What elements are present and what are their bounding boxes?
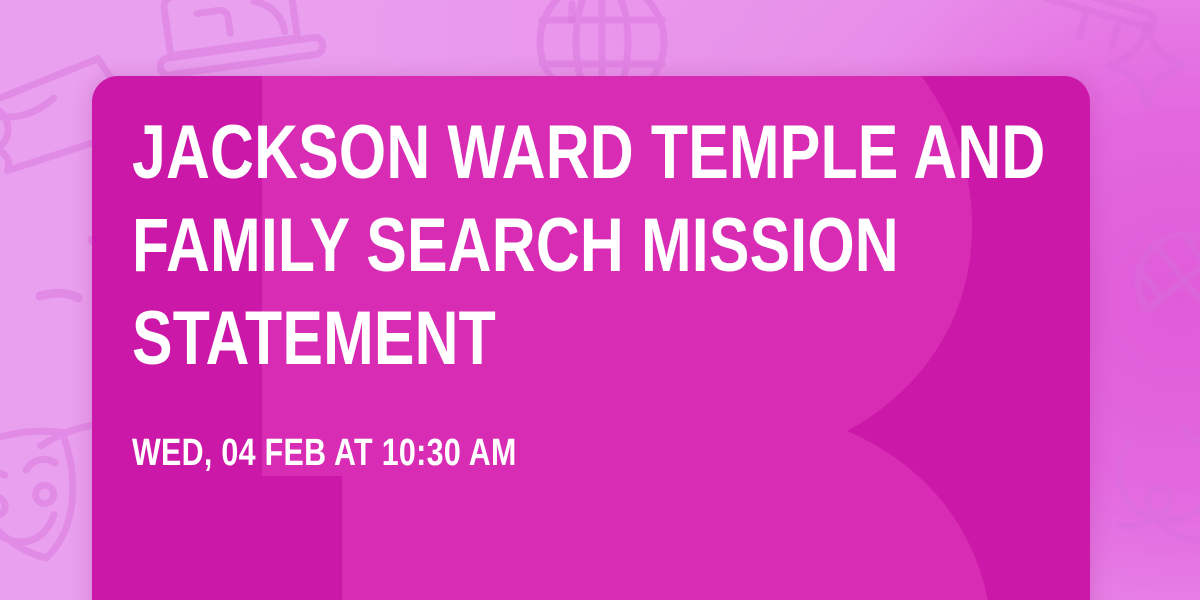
microphone-icon: [1120, 210, 1200, 370]
event-banner: Jackson Ward Temple and Family Search Mi…: [0, 0, 1200, 600]
pin-stem-icon: [562, 0, 582, 30]
page-title: Jackson Ward Temple and Family Search Mi…: [132, 106, 1076, 385]
event-datetime: Wed, 04 Feb at 10:30 AM: [132, 431, 740, 475]
card-content: Jackson Ward Temple and Family Search Mi…: [132, 106, 1050, 475]
event-card: Jackson Ward Temple and Family Search Mi…: [92, 76, 1090, 600]
sparkle-icon: [1092, 10, 1200, 120]
